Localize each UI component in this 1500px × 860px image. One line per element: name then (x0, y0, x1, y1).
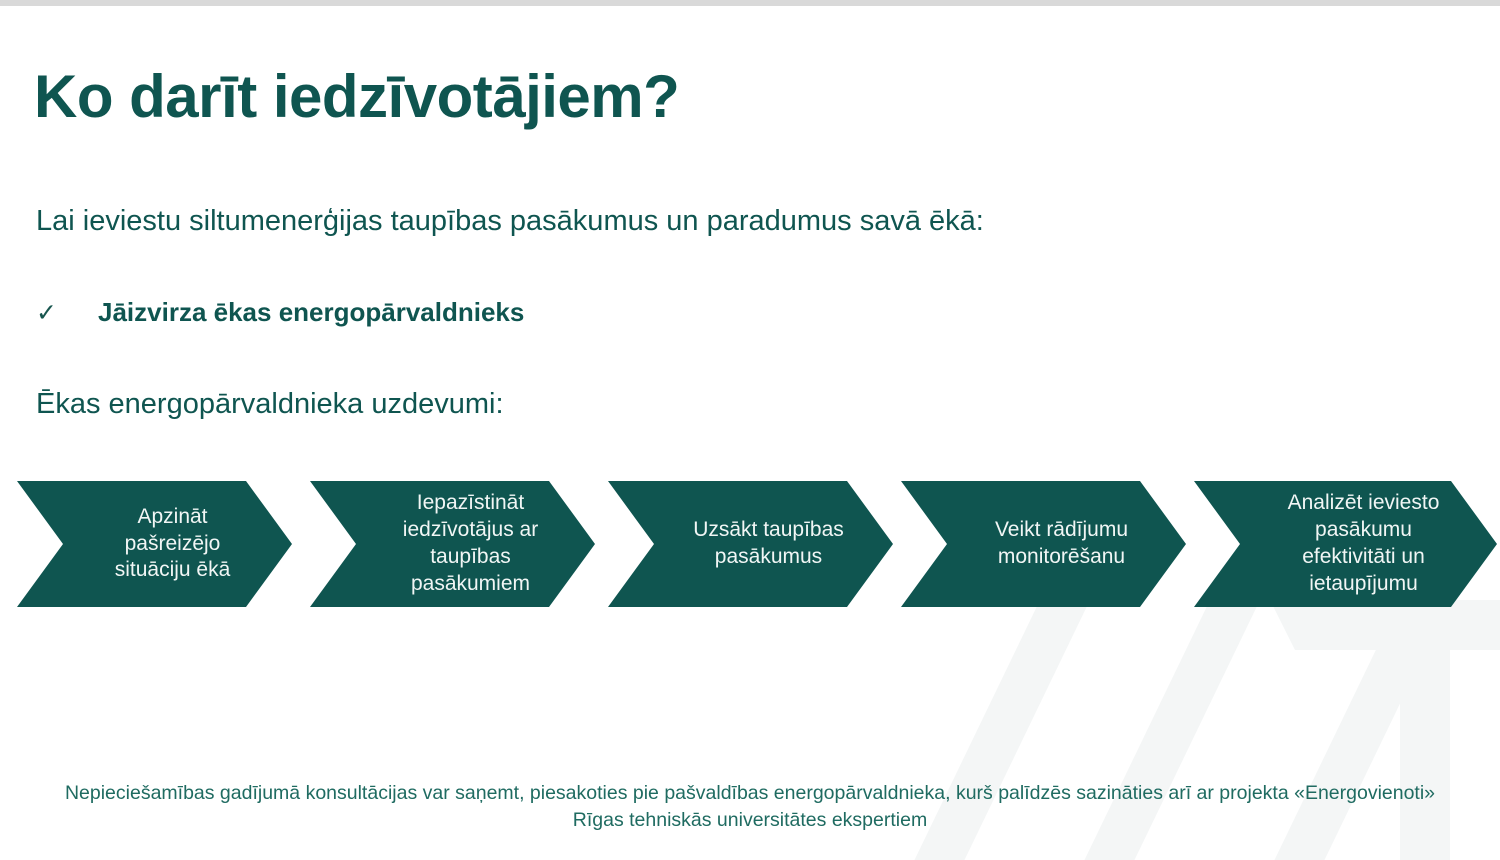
bullet-item: ✓ Jāizvirza ēkas energopārvaldnieks (36, 297, 524, 328)
process-step-label: Iepazīstināt iedzīvotājus ar taupības pa… (359, 490, 546, 598)
process-step-3: Uzsākt taupības pasākumus (608, 481, 893, 607)
slide-canvas: Ko darīt iedzīvotājiem? Lai ieviestu sil… (0, 0, 1500, 860)
process-step-label: Uzsākt taupības pasākumus (649, 517, 852, 571)
section-subheading: Ēkas energopārvaldnieka uzdevumi: (36, 388, 504, 421)
process-step-label: Veikt rādījumu monitorēšanu (951, 517, 1136, 571)
page-title: Ko darīt iedzīvotājiem? (34, 62, 679, 131)
process-step-label: Analizēt ieviesto pasākumu efektivitāti … (1244, 490, 1448, 598)
process-step-2: Iepazīstināt iedzīvotājus ar taupības pa… (310, 481, 595, 607)
process-step-1: Apzināt pašreizējo situāciju ēkā (17, 481, 292, 607)
process-step-label: Apzināt pašreizējo situāciju ēkā (71, 504, 239, 585)
process-step-5: Analizēt ieviesto pasākumu efektivitāti … (1194, 481, 1497, 607)
process-chevron-band: Apzināt pašreizējo situāciju ēkā Iepazīs… (0, 481, 1500, 607)
intro-paragraph: Lai ieviestu siltumenerģijas taupības pa… (36, 205, 984, 238)
bullet-item-label: Jāizvirza ēkas energopārvaldnieks (98, 297, 524, 328)
footer-note: Nepieciešamības gadījumā konsultācijas v… (50, 780, 1450, 834)
check-icon: ✓ (36, 298, 98, 328)
top-strip-divider (0, 0, 1500, 6)
process-step-4: Veikt rādījumu monitorēšanu (901, 481, 1186, 607)
